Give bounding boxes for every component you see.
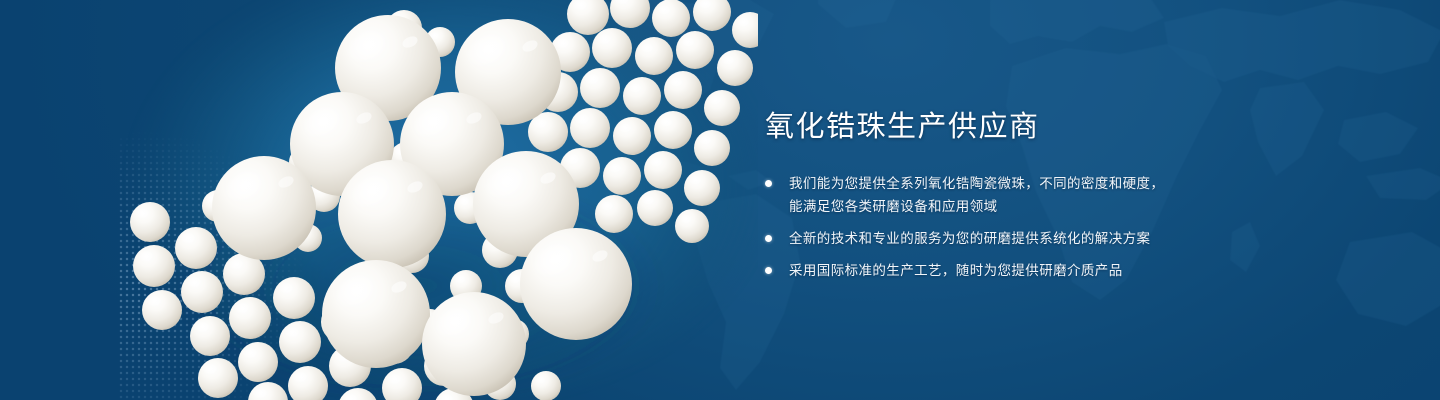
- zirconia-beads-photo: [118, 0, 758, 400]
- list-item-line-1: 全新的技术和专业的服务为您的研磨提供系统化的解决方案: [789, 231, 1150, 246]
- hero-banner: 氧化锆珠生产供应商 我们能为您提供全系列氧化锆陶瓷微珠，不同的密度和硬度， 能满…: [0, 0, 1440, 400]
- list-item-text: 全新的技术和专业的服务为您的研磨提供系统化的解决方案: [789, 227, 1150, 250]
- list-item-line-2: 能满足您各类研磨设备和应用领域: [789, 195, 1164, 218]
- list-item-text: 我们能为您提供全系列氧化锆陶瓷微珠，不同的密度和硬度， 能满足您各类研磨设备和应…: [789, 172, 1164, 218]
- list-item-line-1: 我们能为您提供全系列氧化锆陶瓷微珠，不同的密度和硬度，: [789, 176, 1164, 191]
- list-item: 全新的技术和专业的服务为您的研磨提供系统化的解决方案: [765, 227, 1385, 250]
- list-item-line-1: 采用国际标准的生产工艺，随时为您提供研磨介质产品: [789, 263, 1123, 278]
- bullet-dot-icon: [765, 235, 772, 242]
- page-title: 氧化锆珠生产供应商: [765, 108, 1385, 146]
- bullet-dot-icon: [765, 180, 772, 187]
- banner-copy: 氧化锆珠生产供应商 我们能为您提供全系列氧化锆陶瓷微珠，不同的密度和硬度， 能满…: [765, 108, 1385, 282]
- list-item: 我们能为您提供全系列氧化锆陶瓷微珠，不同的密度和硬度， 能满足您各类研磨设备和应…: [765, 172, 1385, 218]
- list-item-text: 采用国际标准的生产工艺，随时为您提供研磨介质产品: [789, 259, 1123, 282]
- feature-list: 我们能为您提供全系列氧化锆陶瓷微珠，不同的密度和硬度， 能满足您各类研磨设备和应…: [765, 172, 1385, 282]
- list-item: 采用国际标准的生产工艺，随时为您提供研磨介质产品: [765, 259, 1385, 282]
- bullet-dot-icon: [765, 267, 772, 274]
